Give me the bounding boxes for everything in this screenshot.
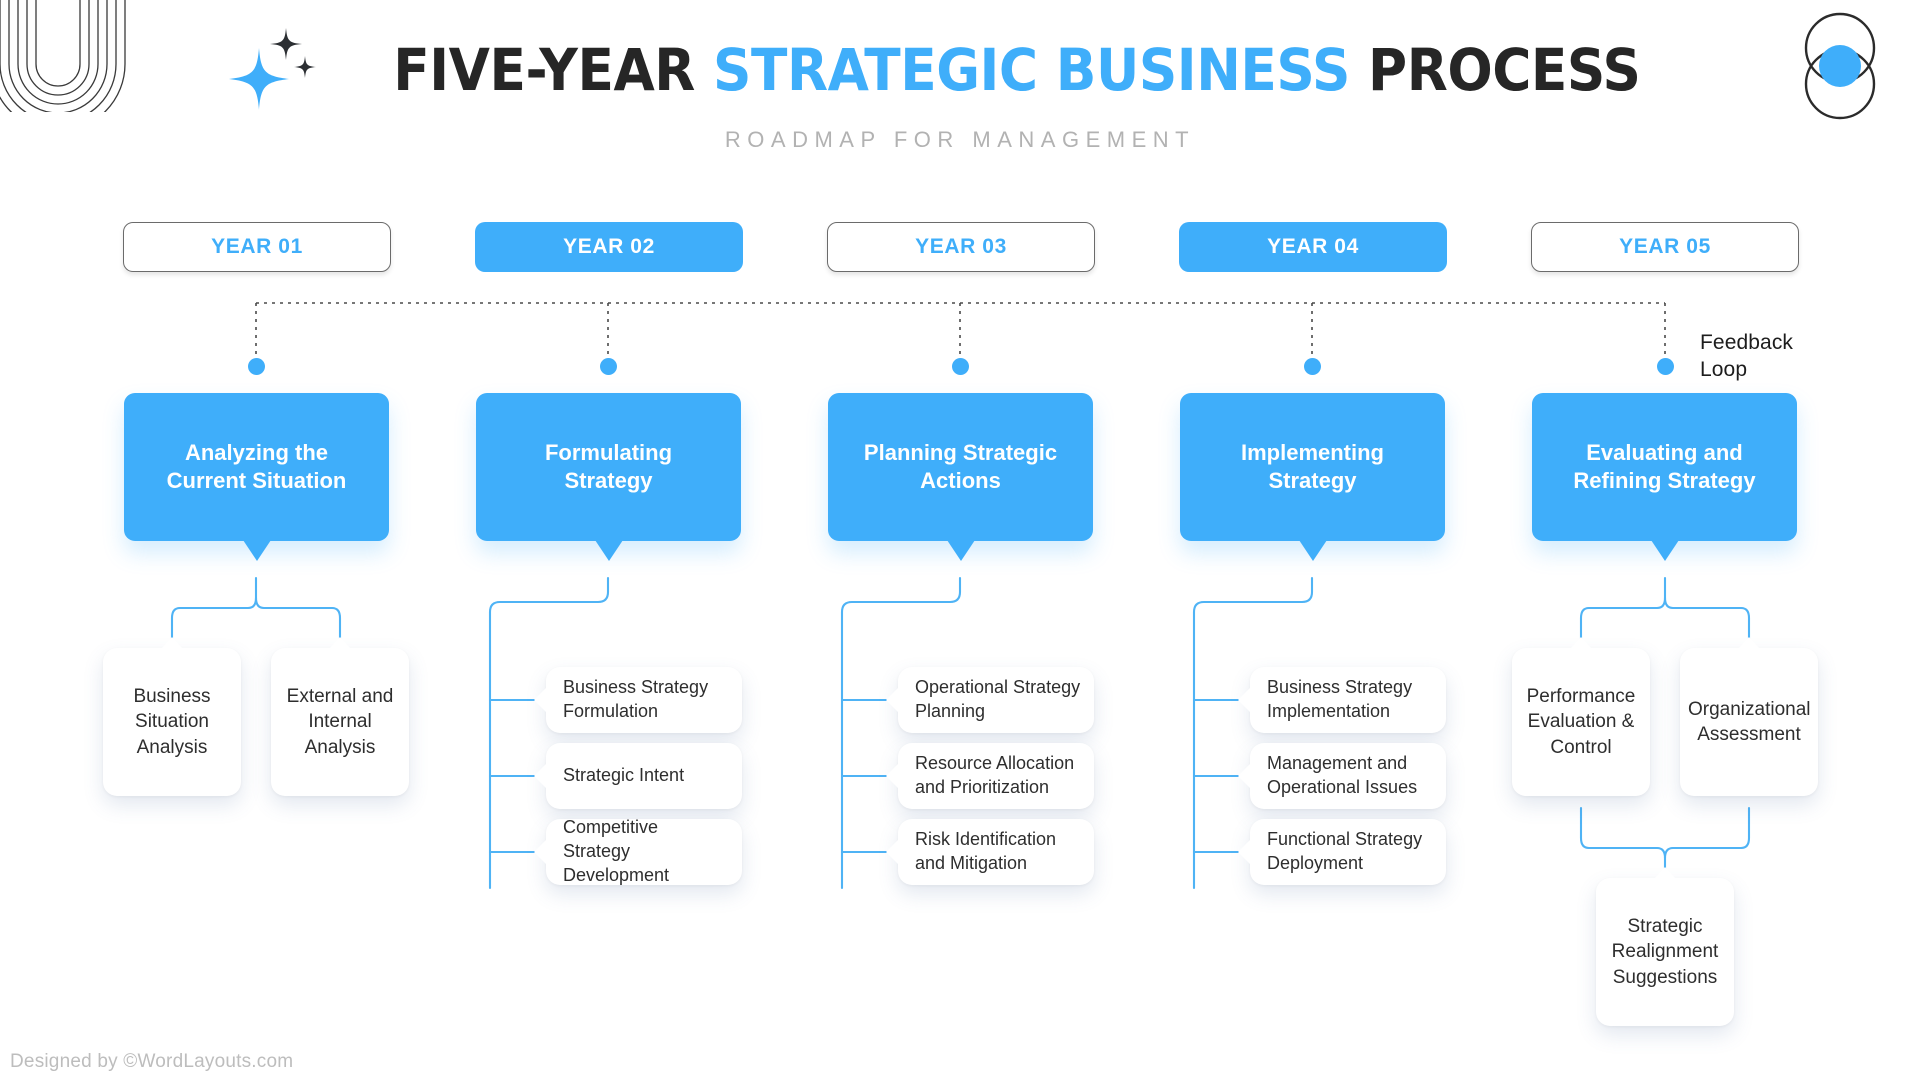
title-accent: STRATEGIC BUSINESS: [713, 36, 1350, 104]
title-part-1: FIVE-YEAR: [393, 36, 713, 104]
sub-card-tail-icon: [1238, 687, 1251, 713]
page-header: FIVE-YEAR STRATEGIC BUSINESS PROCESS ROA…: [0, 22, 1920, 153]
sub-card-line-3: Analysis: [137, 737, 208, 758]
sub-card-line-2: Evaluation &: [1528, 711, 1635, 732]
sub-card-tail-icon: [161, 637, 183, 649]
sub-card-line-1: Functional Strategy: [1267, 829, 1422, 849]
sub-card-line-2: and Mitigation: [915, 853, 1027, 873]
sub-card-line-1: Risk Identification: [915, 829, 1056, 849]
sub-card-2-2[interactable]: Strategic Intent: [546, 743, 742, 809]
sub-card-4-2[interactable]: Management andOperational Issues: [1250, 743, 1446, 809]
sub-card-line-2: Implementation: [1267, 701, 1390, 721]
sub-card-line-1: Business Strategy: [1267, 677, 1412, 697]
timeline-node-dot-3: [952, 358, 969, 375]
title-part-2: PROCESS: [1350, 36, 1641, 104]
infographic-canvas: FIVE-YEAR STRATEGIC BUSINESS PROCESS ROA…: [0, 0, 1920, 1080]
timeline-node-dot-5: [1657, 358, 1674, 375]
page-subtitle: ROADMAP FOR MANAGEMENT: [0, 127, 1920, 153]
phase-line-1: Planning Strategic: [864, 440, 1057, 465]
sub-card-line-1: Operational Strategy: [915, 677, 1080, 697]
sub-card-line-2: Realignment: [1612, 941, 1719, 962]
sub-card-5-1[interactable]: PerformanceEvaluation &Control: [1512, 648, 1650, 796]
sub-card-line-1: External and: [287, 686, 394, 707]
sub-card-tail-icon: [534, 687, 547, 713]
sub-card-tail-icon: [1238, 763, 1251, 789]
sub-card-tail-icon: [1738, 637, 1760, 649]
phase-tail-icon: [1651, 540, 1679, 561]
phase-line-2: Current Situation: [167, 468, 347, 493]
sub-card-line-2: Deployment: [1267, 853, 1363, 873]
sub-card-line-1: Business: [133, 686, 210, 707]
sub-card-line-1: Management and: [1267, 753, 1407, 773]
year-badge-3[interactable]: YEAR 03: [827, 222, 1095, 272]
phase-line-2: Strategy: [1268, 468, 1356, 493]
sub-card-tail-icon: [534, 763, 547, 789]
phase-line-1: Formulating: [545, 440, 672, 465]
year-badge-5[interactable]: YEAR 05: [1531, 222, 1799, 272]
sub-card-line-2: Operational Issues: [1267, 777, 1417, 797]
sub-card-2-1[interactable]: Business StrategyFormulation: [546, 667, 742, 733]
phase-tail-icon: [243, 540, 271, 561]
sub-card-tail-icon: [1570, 637, 1592, 649]
sub-card-tail-icon: [886, 839, 899, 865]
phase-tail-icon: [1299, 540, 1327, 561]
footer-credit: Designed by ©WordLayouts.com: [10, 1051, 293, 1073]
phase-card-4[interactable]: ImplementingStrategy: [1180, 393, 1445, 541]
year-badge-4[interactable]: YEAR 04: [1179, 222, 1447, 272]
sub-card-line-3: Control: [1550, 737, 1611, 758]
sub-card-line-2: Assessment: [1697, 724, 1800, 745]
sub-card-line-1: Business Strategy: [563, 677, 708, 697]
sub-card-tail-icon: [1654, 867, 1676, 879]
timeline-node-dot-4: [1304, 358, 1321, 375]
sub-card-line-2: Planning: [915, 701, 985, 721]
phase-tail-icon: [595, 540, 623, 561]
sub-card-4-3[interactable]: Functional StrategyDeployment: [1250, 819, 1446, 885]
year-badge-label: YEAR 04: [1267, 235, 1359, 259]
sub-card-line-1: Competitive Strategy: [563, 817, 658, 861]
sub-card-4-1[interactable]: Business StrategyImplementation: [1250, 667, 1446, 733]
sub-card-line-1: Organizational: [1688, 699, 1811, 720]
phase-tail-icon: [947, 540, 975, 561]
year-badge-label: YEAR 05: [1619, 235, 1711, 259]
sub-card-3-2[interactable]: Resource Allocationand Prioritization: [898, 743, 1094, 809]
sub-card-5-extra[interactable]: StrategicRealignmentSuggestions: [1596, 878, 1734, 1026]
feedback-loop-rail: [0, 290, 1920, 390]
sub-card-line-2: Internal: [308, 711, 371, 732]
phase-card-5[interactable]: Evaluating andRefining Strategy: [1532, 393, 1797, 541]
sub-card-line-1: Resource Allocation: [915, 753, 1074, 773]
sub-card-line-1: Strategic Intent: [563, 765, 684, 785]
phase-line-2: Refining Strategy: [1573, 468, 1755, 493]
timeline-node-dot-2: [600, 358, 617, 375]
sub-card-line-3: Analysis: [305, 737, 376, 758]
phase-card-3[interactable]: Planning StrategicActions: [828, 393, 1093, 541]
sub-card-3-3[interactable]: Risk Identificationand Mitigation: [898, 819, 1094, 885]
timeline-node-dot-1: [248, 358, 265, 375]
year-badge-label: YEAR 02: [563, 235, 655, 259]
feedback-loop-line2: Loop: [1700, 357, 1793, 384]
sub-card-line-2: Development: [563, 865, 669, 885]
phase-line-2: Strategy: [564, 468, 652, 493]
sub-card-tail-icon: [886, 687, 899, 713]
feedback-loop-line1: Feedback: [1700, 330, 1793, 357]
year-badge-label: YEAR 01: [211, 235, 303, 259]
sub-card-2-3[interactable]: Competitive StrategyDevelopment: [546, 819, 742, 885]
phase-line-2: Actions: [920, 468, 1001, 493]
phase-line-1: Analyzing the: [185, 440, 328, 465]
sub-card-1-2[interactable]: External andInternalAnalysis: [271, 648, 409, 796]
feedback-loop-label: Feedback Loop: [1700, 330, 1793, 384]
year-badge-label: YEAR 03: [915, 235, 1007, 259]
sparkles-icon: [225, 22, 321, 118]
sub-card-tail-icon: [886, 763, 899, 789]
year-badge-1[interactable]: YEAR 01: [123, 222, 391, 272]
phase-line-1: Implementing: [1241, 440, 1384, 465]
sub-card-line-2: Formulation: [563, 701, 658, 721]
phase-card-1[interactable]: Analyzing theCurrent Situation: [124, 393, 389, 541]
sub-card-line-1: Performance: [1527, 686, 1636, 707]
sub-card-tail-icon: [329, 637, 351, 649]
phase-card-2[interactable]: FormulatingStrategy: [476, 393, 741, 541]
year-badge-2[interactable]: YEAR 02: [475, 222, 743, 272]
sub-card-tail-icon: [1238, 839, 1251, 865]
sub-card-line-2: Situation: [135, 711, 209, 732]
sub-card-line-3: Suggestions: [1613, 967, 1718, 988]
sub-card-5-2[interactable]: OrganizationalAssessment: [1680, 648, 1818, 796]
page-title: FIVE-YEAR STRATEGIC BUSINESS PROCESS: [393, 40, 1640, 101]
sub-card-3-1[interactable]: Operational StrategyPlanning: [898, 667, 1094, 733]
phase-line-1: Evaluating and: [1586, 440, 1742, 465]
sub-card-1-1[interactable]: BusinessSituationAnalysis: [103, 648, 241, 796]
sub-card-tail-icon: [534, 839, 547, 865]
sub-card-line-1: Strategic: [1628, 916, 1703, 937]
sub-card-line-2: and Prioritization: [915, 777, 1049, 797]
